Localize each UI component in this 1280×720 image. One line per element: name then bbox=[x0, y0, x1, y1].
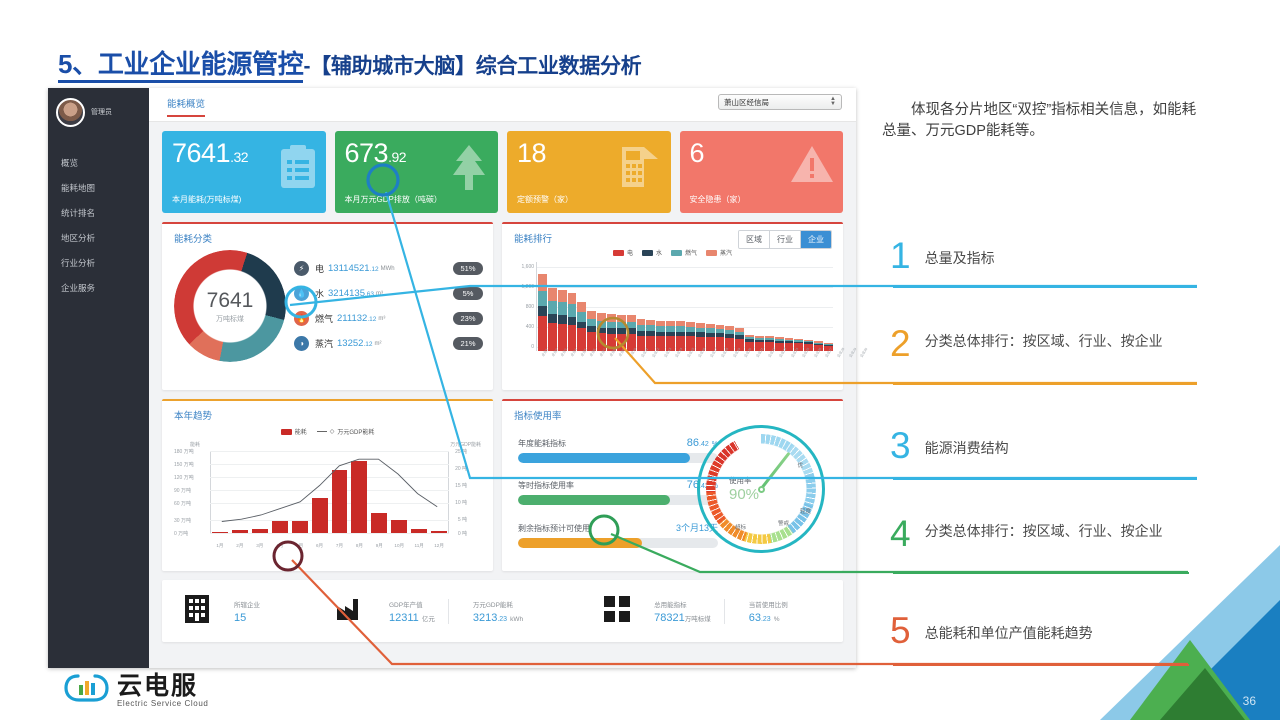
stat-label: 总用能指标 bbox=[654, 599, 711, 609]
logo-text-cn: 云电服 bbox=[117, 674, 208, 699]
x-tick-label: 5月 bbox=[292, 543, 308, 549]
grid-icon bbox=[604, 596, 630, 627]
kpi-value-int: 7641 bbox=[172, 138, 230, 168]
annotation-rule-5 bbox=[893, 664, 1189, 666]
ranking-bars bbox=[538, 267, 833, 351]
logo-text: 云电服 Electric Service Cloud bbox=[117, 674, 208, 708]
stat-label: 当前使用比例 bbox=[749, 599, 788, 609]
sidebar-user-name: 管理员 bbox=[91, 107, 112, 117]
panel-energy-mix: 能耗分类 7641 万吨标煤 ⚡ 电 13114521.12 bbox=[162, 222, 493, 390]
kpi-value-int: 6 bbox=[690, 138, 705, 168]
building-icon bbox=[184, 594, 210, 629]
indicator-label: 剩余指标预计可使用 bbox=[518, 523, 590, 534]
panel-title: 指标使用率 bbox=[502, 401, 843, 422]
annotation-rule-1 bbox=[893, 286, 1197, 288]
page-title: 5、工业企业能源管控-【辅助城市大脑】综合工业数据分析 bbox=[58, 44, 641, 81]
x-tick-label: 8月 bbox=[351, 543, 367, 549]
list-item: 剩余指标预计可使用 3个月13天 bbox=[518, 521, 718, 548]
energy-percent: 23% bbox=[453, 312, 483, 325]
kpi-caption: 安全隐患（家） bbox=[690, 194, 746, 205]
panel-year-trend: 本年趋势 能耗 ◇万元GDP能耗 能耗 万元GDP能耗 bbox=[162, 399, 493, 571]
energy-name: 蒸汽 bbox=[315, 337, 333, 350]
stat-cell-gdp-output: GDP年产值 12311 亿元 bbox=[376, 599, 449, 624]
kpi-card-monthly-energy[interactable]: 7641.32 本月能耗(万吨标煤) bbox=[162, 131, 326, 213]
energy-percent: 51% bbox=[453, 262, 483, 275]
annotation-rule-3 bbox=[893, 478, 1197, 480]
topbar: 能耗概览 萧山区经信局 ▲▼ bbox=[149, 88, 856, 122]
legend-item: 水 bbox=[642, 248, 662, 257]
dashboard-stage: 7641.32 本月能耗(万吨标煤) 673.92 本月万元GDP排放（吨碳） … bbox=[149, 122, 856, 642]
stat-cell-usage-ratio: 当前使用比例 63.23 % bbox=[736, 599, 801, 624]
bar bbox=[568, 293, 577, 351]
indicator-bars: 年度能耗指标 86.42 % 等时指标使用率 76.42 % 剩余指标预计可使用… bbox=[518, 437, 718, 564]
seg-enterprise[interactable]: 企业 bbox=[801, 231, 831, 248]
stat-label: 万元GDP能耗 bbox=[473, 599, 523, 609]
steam-icon: ◑ bbox=[294, 336, 309, 351]
donut-center-unit: 万吨标煤 bbox=[216, 314, 244, 324]
sidebar-item-region-analysis[interactable]: 地区分析 bbox=[48, 225, 149, 250]
stat-cell-enterprise-count: 所辖企业 15 bbox=[221, 599, 273, 624]
energy-percent: 5% bbox=[453, 287, 483, 300]
donut-center: 7641 万吨标煤 bbox=[174, 250, 286, 362]
stat-label: 所辖企业 bbox=[234, 599, 260, 609]
stat-cell-gdp-energy: 万元GDP能耗 3213.23 kWh bbox=[460, 599, 536, 624]
legend-item: 燃气 bbox=[671, 248, 697, 257]
sidebar-menu: 概览 能耗地图 统计排名 地区分析 行业分析 企业服务 bbox=[48, 150, 149, 300]
legend-item: 蒸汽 bbox=[706, 248, 732, 257]
x-tick-label: 11月 bbox=[411, 543, 427, 549]
annotation-4: 4 分类总体排行：按区域、行业、按企业 bbox=[890, 518, 1190, 549]
sidebar-item-statistics-ranking[interactable]: 统计排名 bbox=[48, 200, 149, 225]
annotation-2: 2 分类总体排行：按区域、行业、按企业 bbox=[890, 328, 1190, 359]
region-select[interactable]: 萧山区经信局 ▲▼ bbox=[718, 94, 842, 110]
sidebar-profile[interactable]: 管理员 bbox=[48, 88, 149, 136]
energy-value: 13252.12 bbox=[337, 338, 372, 349]
kpi-row: 7641.32 本月能耗(万吨标煤) 673.92 本月万元GDP排放（吨碳） … bbox=[162, 131, 843, 213]
logo-mark-icon bbox=[64, 672, 110, 709]
x-tick-label: 1月 bbox=[212, 543, 228, 549]
legend-item: 能耗 bbox=[281, 427, 307, 436]
factory-icon bbox=[335, 596, 365, 627]
list-item[interactable]: ◑ 蒸汽 13252.12 m² 21% bbox=[294, 331, 483, 356]
list-item: 年度能耗指标 86.42 % bbox=[518, 437, 718, 463]
gauge-zone-label: 轻度 bbox=[800, 507, 811, 515]
kpi-card-safety-hazard[interactable]: 6 安全隐患（家） bbox=[680, 131, 844, 213]
gauge-zone-label: 优 bbox=[797, 461, 803, 469]
ranking-segmented-control: 区域 行业 企业 bbox=[738, 230, 832, 249]
kpi-card-monthly-gdp-emission[interactable]: 673.92 本月万元GDP排放（吨碳） bbox=[335, 131, 499, 213]
panel-title: 能耗分类 bbox=[162, 224, 493, 245]
bar bbox=[558, 290, 567, 351]
brand-logo: 云电服 Electric Service Cloud bbox=[64, 672, 208, 709]
x-tick-label: 4月 bbox=[272, 543, 288, 549]
annotation-text: 分类总体排行：按区域、行业、按企业 bbox=[925, 518, 1163, 540]
avatar bbox=[56, 98, 85, 127]
stat-value: 15 bbox=[234, 612, 260, 624]
legend-item: 电 bbox=[613, 248, 633, 257]
stat-group-gdp: GDP年产值 12311 亿元 万元GDP能耗 3213.23 kWh bbox=[335, 596, 536, 627]
progress-track bbox=[518, 495, 718, 505]
bar bbox=[548, 288, 557, 352]
energy-value: 13114521.12 bbox=[328, 263, 379, 274]
main-content: 能耗概览 萧山区经信局 ▲▼ 7641.32 本月能耗(万吨标煤) 673.92 bbox=[149, 88, 856, 668]
trend-line bbox=[174, 443, 483, 555]
progress-fill bbox=[518, 495, 670, 505]
stat-group-enterprise: 所辖企业 15 bbox=[184, 594, 273, 629]
clipboard-icon bbox=[279, 144, 317, 195]
energy-value: 3214135.63 bbox=[328, 288, 374, 299]
panel-energy-ranking: 能耗排行 区域 行业 企业 电 水 燃气 蒸汽 1,600 1,200 bbox=[502, 222, 843, 390]
energy-name: 燃气 bbox=[315, 312, 333, 325]
gauge-percent: 90% bbox=[729, 486, 759, 503]
ranking-bar-chart: 1,600 1,200 800 400 0 企业1企业2企业3企业4企业5企业6… bbox=[510, 262, 835, 368]
progress-track bbox=[518, 538, 718, 548]
energy-unit: m³ bbox=[378, 316, 385, 322]
sidebar-item-label: 企业服务 bbox=[61, 282, 95, 294]
annotation-3: 3 能源消费结构 bbox=[890, 430, 1009, 461]
energy-name: 水 bbox=[315, 287, 324, 300]
energy-donut-chart: 7641 万吨标煤 bbox=[174, 250, 286, 362]
bar bbox=[587, 311, 596, 351]
panel-indicator-usage: 指标使用率 年度能耗指标 86.42 % 等时指标使用率 76.42 % bbox=[502, 399, 843, 571]
gauge-zone-label: 警戒 bbox=[778, 519, 789, 527]
x-tick-label: 7月 bbox=[332, 543, 348, 549]
gauge-zone-label: 超标 bbox=[735, 523, 746, 531]
annotation-text: 分类总体排行：按区域、行业、按企业 bbox=[925, 328, 1163, 350]
page-title-sub: -【辅助城市大脑】综合工业数据分析 bbox=[303, 55, 641, 78]
sidebar-item-label: 概览 bbox=[61, 157, 78, 169]
annotation-number: 2 bbox=[890, 328, 911, 359]
trend-x-labels: 1月2月3月4月5月6月7月8月9月10月11月12月 bbox=[212, 543, 447, 549]
bottom-stats-bar: 所辖企业 15 GDP年产值 12311 亿元 万元GDP能耗 3213.23 … bbox=[162, 580, 843, 642]
kpi-value-dec: .92 bbox=[388, 149, 406, 165]
annotation-rule-2 bbox=[893, 383, 1197, 385]
logo-text-en: Electric Service Cloud bbox=[117, 699, 208, 708]
panel-title: 本年趋势 bbox=[162, 401, 493, 422]
bar bbox=[646, 320, 655, 351]
bar bbox=[577, 302, 586, 351]
sidebar-item-label: 统计排名 bbox=[61, 207, 95, 219]
bolt-icon: ⚡ bbox=[294, 261, 309, 276]
progress-fill bbox=[518, 453, 690, 463]
calculator-icon bbox=[618, 144, 662, 195]
annotation-text: 总量及指标 bbox=[925, 240, 995, 267]
tab-energy-overview[interactable]: 能耗概览 bbox=[167, 96, 205, 117]
kpi-value-int: 18 bbox=[517, 138, 546, 168]
bar bbox=[607, 314, 616, 351]
bar bbox=[617, 315, 626, 351]
warning-icon bbox=[790, 144, 834, 189]
energy-percent: 21% bbox=[453, 337, 483, 350]
trend-legend: 能耗 ◇万元GDP能耗 bbox=[162, 427, 493, 436]
annotation-number: 1 bbox=[890, 240, 911, 271]
gauge-label: 使用率 bbox=[729, 475, 752, 486]
kpi-caption: 本月万元GDP排放（吨碳） bbox=[345, 194, 442, 205]
kpi-value-int: 673 bbox=[345, 138, 389, 168]
kpi-value-dec: .32 bbox=[230, 149, 248, 165]
flame-icon: 🔥 bbox=[294, 311, 309, 326]
progress-track bbox=[518, 453, 718, 463]
panel-row-middle: 能耗分类 7641 万吨标煤 ⚡ 电 13114521.12 bbox=[162, 222, 843, 390]
kpi-caption: 定额预警（家） bbox=[517, 194, 573, 205]
annotation-note: 体现各分片地区“双控”指标相关信息，如能耗总量、万元GDP能耗等。 bbox=[882, 100, 1200, 142]
annotation-text: 总能耗和单位产值能耗趋势 bbox=[925, 615, 1093, 642]
y-tick-label: 0 bbox=[510, 344, 534, 350]
annotation-number: 3 bbox=[890, 430, 911, 461]
sidebar-item-energy-map[interactable]: 能耗地图 bbox=[48, 175, 149, 200]
sidebar-item-enterprise-service[interactable]: 企业服务 bbox=[48, 275, 149, 300]
indicator-label: 等时指标使用率 bbox=[518, 480, 574, 491]
ranking-x-labels: 企业1企业2企业3企业4企业5企业6企业7企业8企业9企业10企业11企业12企… bbox=[538, 351, 833, 368]
donut-center-value: 7641 bbox=[207, 289, 254, 313]
list-item[interactable]: 💧 水 3214135.63 m³ 5% bbox=[294, 281, 483, 306]
trend-chart: 180 万吨 150 万吨 120 万吨 90 万吨 60 万吨 30 万吨 0… bbox=[174, 443, 483, 555]
sidebar-item-overview[interactable]: 概览 bbox=[48, 150, 149, 175]
panel-row-lower: 本年趋势 能耗 ◇万元GDP能耗 能耗 万元GDP能耗 bbox=[162, 399, 843, 571]
annotation-text: 能源消费结构 bbox=[925, 430, 1009, 457]
y-tick-label: 1,200 bbox=[510, 284, 534, 290]
bar bbox=[627, 315, 636, 351]
progress-fill bbox=[518, 538, 642, 548]
gauge-hub bbox=[758, 486, 765, 493]
stat-value: 78321万吨标煤 bbox=[654, 612, 711, 624]
tree-icon bbox=[449, 144, 489, 197]
kpi-caption: 本月能耗(万吨标煤) bbox=[172, 194, 241, 205]
page-number: 36 bbox=[1243, 694, 1256, 708]
energy-unit: m³ bbox=[376, 291, 383, 297]
annotation-1: 1 总量及指标 bbox=[890, 240, 995, 271]
stat-value: 12311 亿元 bbox=[389, 612, 435, 624]
legend-item: ◇万元GDP能耗 bbox=[317, 427, 375, 436]
list-item[interactable]: ⚡ 电 13114521.12 MWh 51% bbox=[294, 256, 483, 281]
y-tick-label: 400 bbox=[510, 324, 534, 330]
stat-cell-total-quota: 总用能指标 78321万吨标煤 bbox=[641, 599, 725, 624]
y-tick-label: 1,600 bbox=[510, 264, 534, 270]
energy-value: 211132.12 bbox=[337, 313, 376, 324]
energy-legend-list: ⚡ 电 13114521.12 MWh 51% 💧 水 3214135.63 m… bbox=[294, 256, 483, 356]
list-item: 等时指标使用率 76.42 % bbox=[518, 479, 718, 505]
x-tick-label: 3月 bbox=[252, 543, 268, 549]
y-tick-label: 800 bbox=[510, 304, 534, 310]
annotation-number: 4 bbox=[890, 518, 911, 549]
stat-value: 3213.23 kWh bbox=[473, 612, 523, 624]
x-tick-label: 10月 bbox=[391, 543, 407, 549]
bar bbox=[538, 274, 547, 351]
water-drop-icon: 💧 bbox=[294, 286, 309, 301]
ranking-legend: 电 水 燃气 蒸汽 bbox=[502, 248, 843, 257]
sidebar-item-label: 能耗地图 bbox=[61, 182, 95, 194]
energy-name: 电 bbox=[315, 262, 324, 275]
stat-group-quota: 总用能指标 78321万吨标煤 当前使用比例 63.23 % bbox=[604, 596, 801, 627]
seg-industry[interactable]: 行业 bbox=[770, 231, 801, 248]
sidebar-item-label: 地区分析 bbox=[61, 232, 95, 244]
annotation-5: 5 总能耗和单位产值能耗趋势 bbox=[890, 615, 1093, 646]
usage-gauge: 使用率 90% 优 轻度 警戒 超标 bbox=[697, 425, 825, 553]
dashboard-app: 管理员 概览 能耗地图 统计排名 地区分析 行业分析 企业服务 能耗概览 萧山区… bbox=[48, 88, 856, 668]
x-tick-label: 2月 bbox=[232, 543, 248, 549]
sidebar-item-label: 行业分析 bbox=[61, 257, 95, 269]
region-select-value: 萧山区经信局 bbox=[724, 97, 769, 108]
stat-label: GDP年产值 bbox=[389, 599, 435, 609]
page-title-main: 5、工业企业能源管控 bbox=[58, 49, 303, 83]
list-item[interactable]: 🔥 燃气 211132.12 m³ 23% bbox=[294, 306, 483, 331]
energy-unit: m² bbox=[374, 341, 381, 347]
annotation-number: 5 bbox=[890, 615, 911, 646]
chevron-updown-icon: ▲▼ bbox=[830, 97, 836, 108]
indicator-label: 年度能耗指标 bbox=[518, 438, 566, 449]
seg-region[interactable]: 区域 bbox=[739, 231, 770, 248]
sidebar: 管理员 概览 能耗地图 统计排名 地区分析 行业分析 企业服务 bbox=[48, 88, 149, 668]
stat-value: 63.23 % bbox=[749, 612, 788, 624]
energy-unit: MWh bbox=[381, 266, 395, 272]
annotation-rule-4 bbox=[893, 572, 1189, 574]
kpi-card-quota-warning[interactable]: 18 定额预警（家） bbox=[507, 131, 671, 213]
x-tick-label: 9月 bbox=[371, 543, 387, 549]
x-tick-label: 6月 bbox=[312, 543, 328, 549]
x-tick-label: 12月 bbox=[431, 543, 447, 549]
sidebar-item-industry-analysis[interactable]: 行业分析 bbox=[48, 250, 149, 275]
bar bbox=[597, 313, 606, 351]
